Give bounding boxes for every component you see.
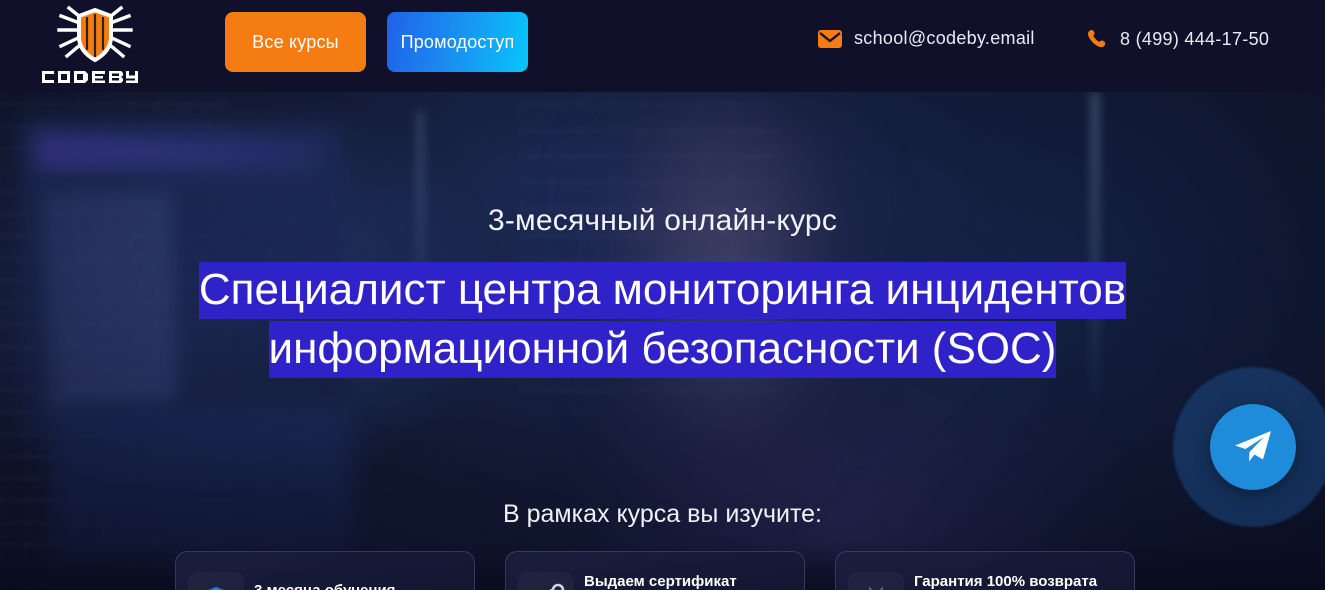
email-contact[interactable]: school@codeby.email <box>818 28 1035 49</box>
logo-link[interactable] <box>40 4 150 88</box>
feature-card-list: 3 месяца обучения с видеоуроками и задан… <box>175 551 1150 590</box>
hero-title-line-2-text: информационной безопасности (SOC) <box>269 321 1057 378</box>
graduation-cap-icon <box>188 572 244 590</box>
site-header: Все курсы Промодоступ school@codeby.emai… <box>0 0 1325 92</box>
hero-title: Специалист центра мониторинга инцидентов… <box>0 260 1325 378</box>
hero-kicker: 3-месячный онлайн-курс <box>0 204 1325 238</box>
logo-wordmark <box>40 68 148 86</box>
feature-card-certificate: Выдаем сертификат после успешной сдачи э… <box>505 551 805 590</box>
all-courses-button[interactable]: Все курсы <box>225 12 366 72</box>
phone-icon <box>1086 28 1108 50</box>
phone-text: 8 (499) 444-17-50 <box>1120 29 1269 50</box>
money-bag-icon: $ <box>848 572 904 590</box>
feature-card-certificate-title: Выдаем сертификат <box>584 572 790 590</box>
telegram-button[interactable] <box>1210 404 1296 490</box>
telegram-floating-widget <box>1173 367 1325 527</box>
feature-card-refund-title: Гарантия 100% возврата <box>914 572 1120 590</box>
diploma-scroll-icon <box>518 572 574 590</box>
envelope-icon <box>818 30 842 48</box>
spider-shield-logo-icon <box>53 4 137 66</box>
hero-title-line-2: информационной безопасности (SOC) <box>0 319 1325 378</box>
hero-title-line-1: Специалист центра мониторинга инцидентов <box>0 260 1325 319</box>
hero-title-line-1-text: Специалист центра мониторинга инцидентов <box>199 262 1126 319</box>
hero-subhead: В рамках курса вы изучите: <box>0 500 1325 529</box>
telegram-paper-plane-icon <box>1232 428 1274 466</box>
email-text: school@codeby.email <box>854 28 1035 49</box>
feature-card-duration: 3 месяца обучения с видеоуроками и задан… <box>175 551 475 590</box>
hero-section: 3-месячный онлайн-курс Специалист центра… <box>0 92 1325 590</box>
feature-card-refund: $ Гарантия 100% возврата средств в первы… <box>835 551 1135 590</box>
feature-card-duration-title: 3 месяца обучения <box>254 581 460 590</box>
promo-access-button[interactable]: Промодоступ <box>387 12 528 72</box>
phone-contact[interactable]: 8 (499) 444-17-50 <box>1086 28 1269 50</box>
